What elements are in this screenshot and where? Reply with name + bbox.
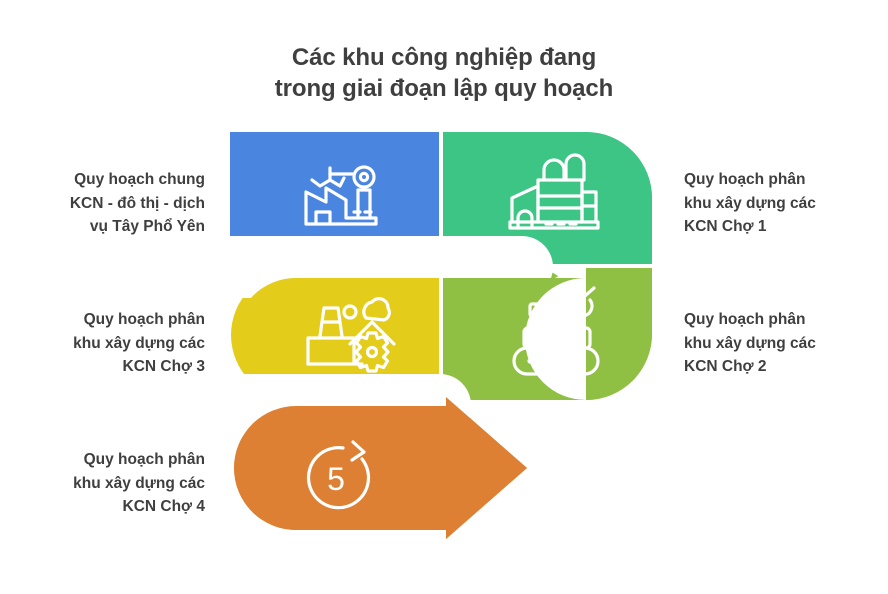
divider-blue-bottom (228, 264, 443, 269)
lobe-divider (586, 264, 652, 268)
divider-yellow-lightgreen (439, 268, 443, 402)
divider-yellow-orange (228, 400, 443, 405)
divider-blue-green (439, 130, 443, 264)
step-label-3: Quy hoạch phân khu xây dựng các KCN Chợ … (684, 308, 879, 379)
icon-badge-number: 5 (327, 461, 345, 497)
infographic-canvas: Các khu công nghiệp đang trong giai đoạn… (0, 0, 888, 594)
step-label-5: Quy hoạch phân khu xây dựng các KCN Chợ … (20, 448, 205, 519)
segment-orange-arrow-redraw[interactable] (234, 397, 527, 539)
step-label-4: Quy hoạch phân khu xây dựng các KCN Chợ … (20, 308, 205, 379)
step-label-1: Quy hoạch chung KCN - đô thị - dịch vụ T… (20, 168, 205, 239)
step-label-2: Quy hoạch phân khu xây dựng các KCN Chợ … (684, 168, 879, 239)
lightgreen-lobe-fill (586, 278, 652, 400)
